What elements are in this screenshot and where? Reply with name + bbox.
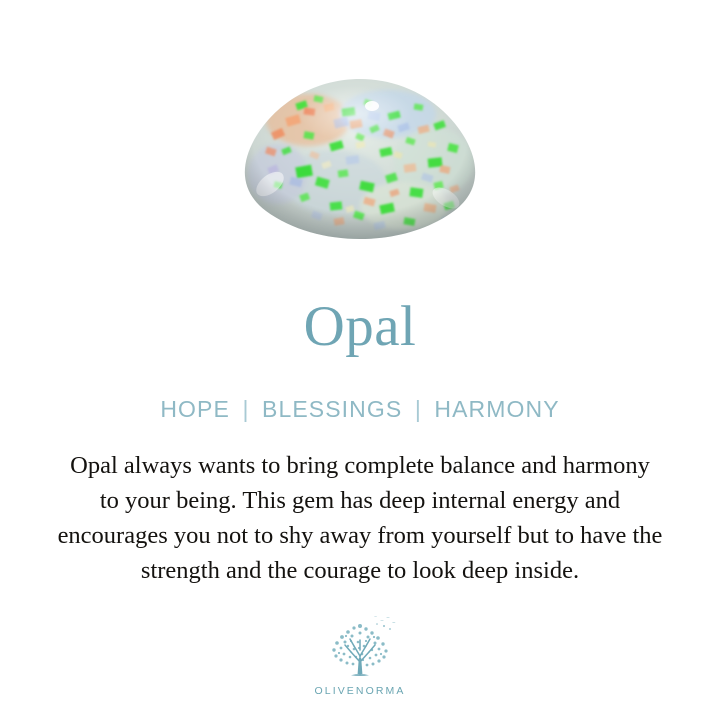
description-text: Opal always wants to bring complete bala…	[24, 448, 696, 588]
brand-logo: OLIVENORMA	[0, 612, 720, 697]
gem-image-area	[0, 78, 720, 263]
brand-wordmark: OLIVENORMA	[314, 685, 405, 697]
birds	[374, 616, 396, 630]
keyword-hope: HOPE	[160, 396, 230, 422]
tree-of-life-icon	[318, 612, 402, 684]
keyword-blessings: BLESSINGS	[262, 396, 402, 422]
keyword-harmony: HARMONY	[434, 396, 559, 422]
gemstone-info-card: Opal HOPE | BLESSINGS | HARMONY Opal alw…	[0, 0, 720, 720]
keyword-separator-1: |	[237, 396, 254, 422]
keyword-separator-2: |	[410, 396, 427, 422]
page-title: Opal	[0, 297, 720, 357]
keyword-subtitle: HOPE | BLESSINGS | HARMONY	[0, 396, 720, 423]
opal-cabochon-image	[238, 78, 482, 240]
description-line-2: to your being. This gem has deep interna…	[24, 483, 696, 518]
description-line-1: Opal always wants to bring complete bala…	[24, 448, 696, 483]
description-line-4: strength and the courage to look deep in…	[24, 553, 696, 588]
gem-play-of-color	[238, 78, 482, 240]
description-line-3: encourages you not to shy away from your…	[24, 518, 696, 553]
opal-cabochon-svg	[238, 78, 482, 240]
